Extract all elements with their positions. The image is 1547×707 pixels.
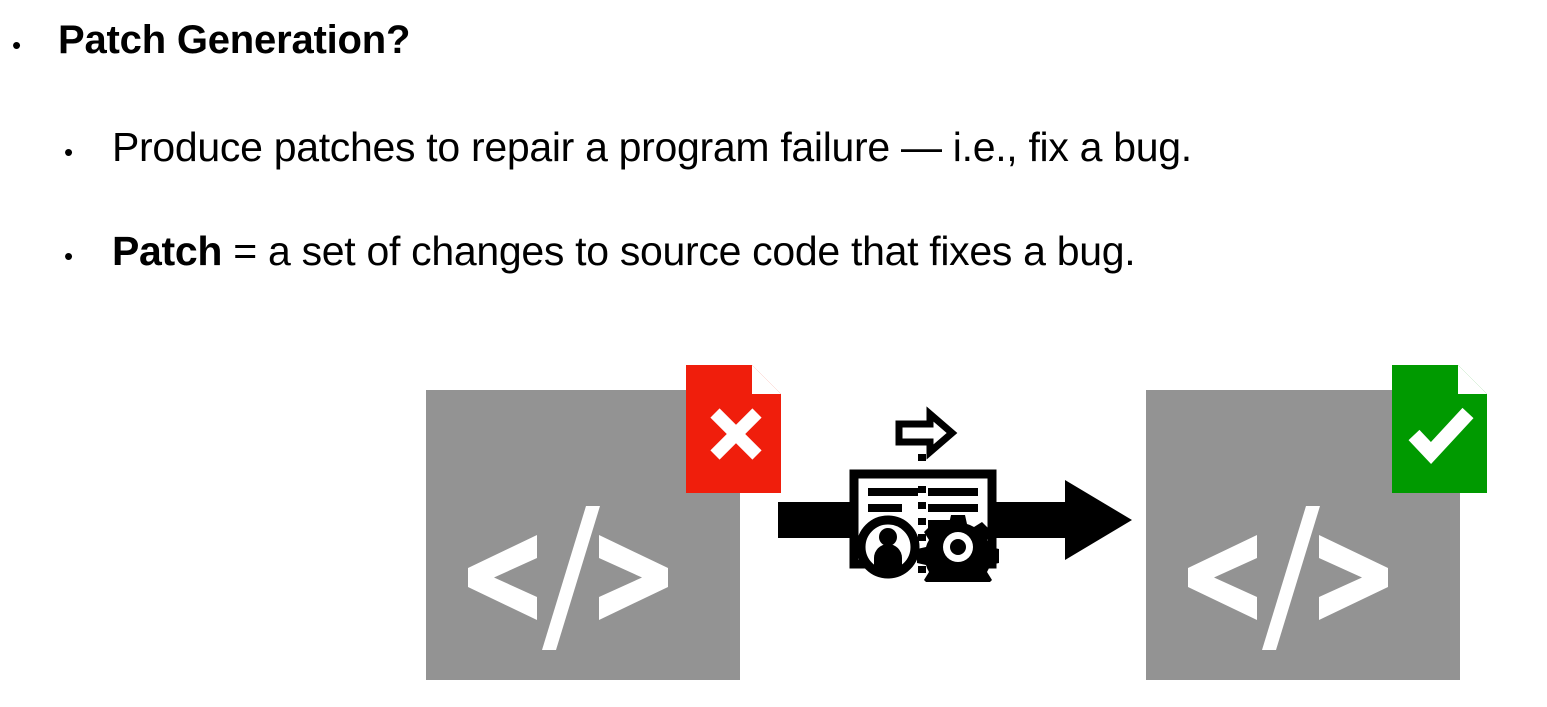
person-icon [861,520,915,574]
patch-process-icon [770,392,1140,582]
page-title: Patch Generation? [58,18,410,63]
bullet-marker-icon: • [12,18,58,58]
gear-icon [917,515,999,582]
code-glyph-icon [426,390,740,680]
bullet-marker-icon: • [64,228,112,269]
bullet-text-patch-definition: Patch = a set of changes to source code … [112,228,1135,275]
bullet-marker-icon: • [64,124,112,165]
bullet-level1-patch-generation: • Patch Generation? [12,18,410,63]
bullet-text-produce-patches: Produce patches to repair a program fail… [112,124,1192,171]
document-text-lines-right [928,488,978,528]
document-text-lines-left [868,488,918,512]
fixed-code-box [1146,390,1460,680]
patch-document-outline [854,474,992,564]
document-shape [686,365,781,493]
transform-arrow-icon [778,480,1132,560]
patch-document-plate [850,470,996,570]
patch-generation-figure [0,0,1547,707]
hollow-arrow-icon [899,414,952,452]
folded-corner-icon [1458,365,1487,394]
patch-term: Patch [112,228,222,274]
passing-document-badge [1392,365,1487,493]
buggy-code-box [426,390,740,680]
code-glyph-icon [1146,390,1460,680]
failing-document-badge [686,365,781,493]
patch-definition-rest: = a set of changes to source code that f… [222,228,1135,274]
document-shape [1392,365,1487,493]
bullet-level2-produce-patches: • Produce patches to repair a program fa… [64,124,1192,171]
bullet-level2-patch-definition: • Patch = a set of changes to source cod… [64,228,1135,275]
check-icon [1414,413,1468,453]
close-icon [715,413,757,455]
folded-corner-icon [752,365,781,394]
